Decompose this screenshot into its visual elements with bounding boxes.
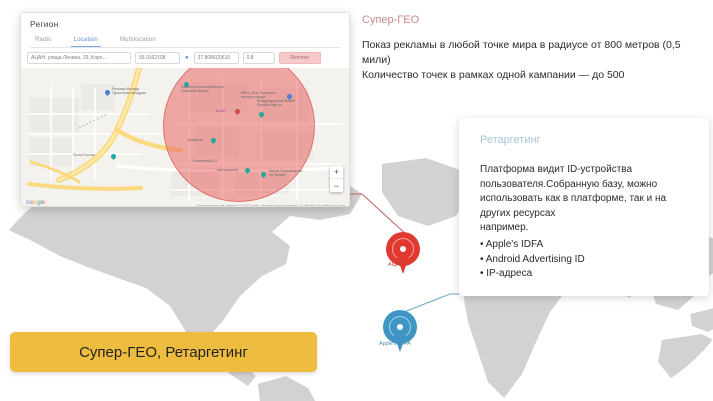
map-marker-1-label: Разъезд Мытищи Туристская Автодром [112, 88, 146, 96]
zoom-in-button[interactable]: + [330, 166, 343, 179]
bottom-banner-text: Супер-ГЕО, Ретаргетинг [79, 344, 248, 361]
retargeting-list-item-idfa: • Apple's IDFA [480, 238, 692, 253]
address-input[interactable]: АЦАН, улица Ленина, 29, Коро… [27, 52, 131, 64]
region-form-row: АЦАН, улица Ленина, 29, Коро… 55.9162108… [21, 48, 349, 68]
map-marker-4-label: Почта России [73, 154, 95, 158]
map-marker-7-label: Пожарная [187, 139, 203, 143]
tab-location[interactable]: Location [71, 35, 101, 47]
world-pin-idfa-label: Apple's IDFA [379, 341, 411, 347]
map-marker-6-label: АЦАН [216, 110, 225, 114]
super-geo-body: Показ рекламы в любой точке мира в радиу… [362, 38, 702, 83]
map-marker-5-label: Международный Живой Русский Мир ул. [257, 100, 295, 108]
region-card-header: Регион Radio Location Multilocation [21, 13, 349, 48]
map-zoom-controls[interactable]: + − [330, 166, 343, 192]
google-watermark: Google [26, 200, 45, 206]
retargeting-body: Платформа видит ID-устройства пользовате… [480, 163, 692, 236]
world-pin-geo-dot [400, 246, 406, 252]
map-marker-5[interactable] [259, 112, 264, 119]
map-marker-9-label: Центральная [217, 169, 238, 173]
world-pin-idfa-dot [397, 324, 403, 330]
location-pin-icon: ● [185, 55, 189, 61]
map-marker-1[interactable] [105, 90, 110, 97]
radius-input[interactable]: 0.8 [243, 52, 275, 64]
retargeting-list: • Apple's IDFA • Android Advertising ID … [480, 238, 692, 282]
google-map-canvas[interactable]: Разъезд Мытищи Туристская Автодром Палле… [21, 68, 349, 207]
region-card-title: Регион [30, 19, 340, 29]
map-marker-10[interactable] [261, 172, 266, 179]
retargeting-title: Ретаргетинг [480, 134, 541, 146]
world-pin-geo-label: АЦАН [388, 262, 403, 268]
latitude-input[interactable]: 55.9162108 [135, 52, 180, 64]
world-pin-idfa[interactable] [383, 310, 417, 354]
bottom-banner: Супер-ГЕО, Ретаргетинг [10, 332, 317, 372]
retargeting-list-item-aaid: • Android Advertising ID [480, 253, 692, 268]
world-pin-geo[interactable] [386, 232, 420, 276]
super-geo-title: Супер-ГЕО [362, 14, 419, 26]
map-marker-6[interactable] [235, 109, 240, 116]
map-marker-7[interactable] [211, 138, 216, 145]
map-attribution: Картографические данные © 2019 Google · … [197, 204, 345, 207]
region-screenshot-card: Регион Radio Location Multilocation АЦАН… [20, 12, 350, 207]
remove-button[interactable]: Remove [279, 52, 321, 64]
slide-root: АЦАН Apple's IDFA Регион Radio Location … [0, 0, 713, 401]
map-marker-2-label: Паллетно-изготовительная Компания Маркет [181, 86, 224, 94]
longitude-input[interactable]: 37.8086(3)610 [194, 52, 239, 64]
tab-radio[interactable]: Radio [32, 35, 55, 47]
retargeting-list-item-ip: • IP-адреса [480, 267, 692, 282]
tab-multilocation[interactable]: Multilocation [117, 35, 159, 47]
map-marker-9[interactable] [245, 168, 250, 175]
retargeting-card: Ретаргетинг Платформа видит ID-устройств… [459, 118, 709, 296]
map-marker-8-label: Больничный 17 [193, 160, 217, 164]
region-tabs: Radio Location Multilocation [30, 35, 340, 48]
zoom-out-button[interactable]: − [330, 179, 343, 192]
map-marker-4[interactable] [111, 154, 116, 161]
map-marker-10-label: Школа Производства по Ленина [269, 170, 302, 178]
